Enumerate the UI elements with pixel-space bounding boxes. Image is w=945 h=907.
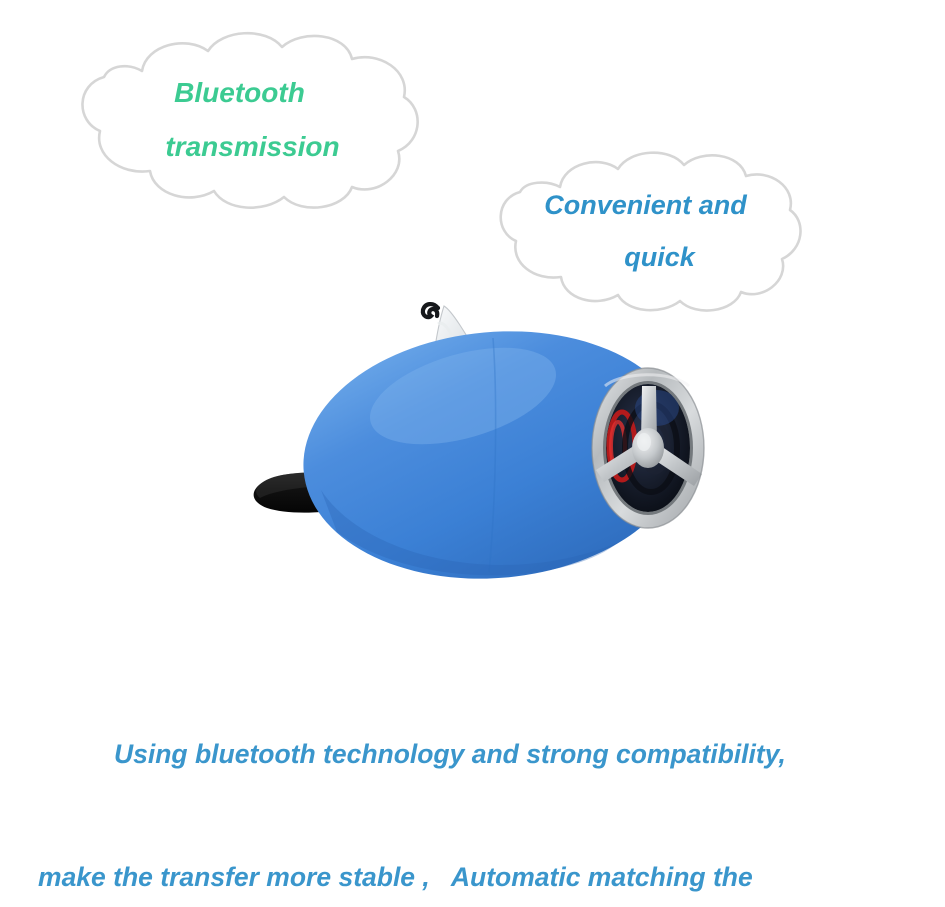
product-marketing-image: Bluetooth transmission Convenient and qu…	[0, 0, 945, 907]
product-image-bluetooth-speaker	[205, 290, 745, 620]
cloud-shape-icon	[50, 25, 425, 215]
callout-cloud-bluetooth-transmission: Bluetooth transmission	[50, 25, 425, 215]
fin-hook-icon	[423, 304, 438, 317]
speaker-illustration	[205, 290, 745, 620]
product-description: Using bluetooth technology and strong co…	[22, 652, 937, 907]
description-line-2: make the transfer more stable , Automati…	[22, 857, 937, 898]
description-line-1: Using bluetooth technology and strong co…	[22, 734, 937, 775]
turbine-speaker-grille	[592, 368, 704, 528]
